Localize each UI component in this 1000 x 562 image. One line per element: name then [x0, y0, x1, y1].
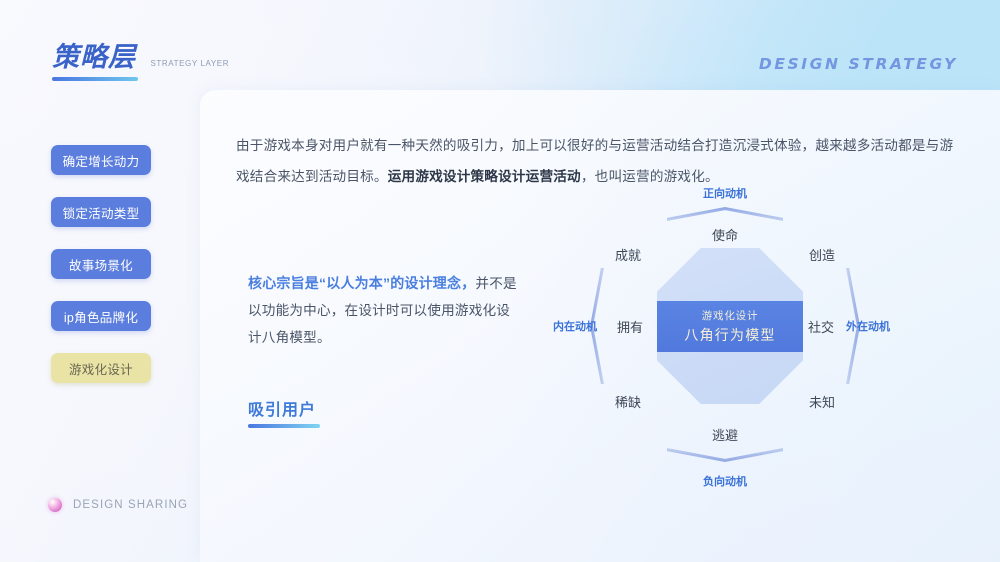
content-card: 由于游戏本身对用户就有一种天然的吸引力，加上可以很好的与运营活动结合打造沉浸式体… [200, 90, 1000, 562]
sidebar-item-gamification[interactable]: 游戏化设计 [51, 353, 151, 383]
sidebar-item-activity-type[interactable]: 锁定活动类型 [51, 197, 151, 227]
slide-header-left: 策略层 STRATEGY LAYER [52, 44, 229, 81]
axis-label-positive-motivation: 正向动机 [703, 185, 747, 201]
octagon-label-ownership: 拥有 [617, 317, 643, 336]
chevron-up-icon [667, 207, 783, 221]
brand-footer: DESIGN SHARING [48, 498, 188, 512]
axis-label-intrinsic-motivation: 内在动机 [553, 318, 597, 334]
sidebar-item-growth-driver[interactable]: 确定增长动力 [51, 145, 151, 175]
concept-blurb: 核心宗旨是“以人为本”的设计理念，并不是以功能为中心，在设计时可以使用游戏化设计… [248, 270, 518, 351]
octagon-label-achievement: 成就 [615, 245, 641, 264]
octagon-label-unpredictability: 未知 [809, 392, 835, 411]
axis-label-extrinsic-motivation: 外在动机 [846, 318, 890, 334]
octagon-core-line2: 八角行为模型 [684, 325, 775, 345]
octagon-label-scarcity: 稀缺 [615, 392, 641, 411]
chevron-down-icon [667, 448, 783, 462]
intro-paragraph-emphasis: 运用游戏设计策略设计运营活动 [388, 169, 581, 184]
octagon-core-band: 游戏化设计 八角行为模型 [657, 301, 803, 352]
octagon-label-social: 社交 [808, 317, 834, 336]
page-subtitle: STRATEGY LAYER [150, 59, 229, 68]
title-underline [52, 77, 138, 81]
octagon-label-mission: 使命 [712, 225, 738, 244]
section-subheading-underline [248, 424, 320, 428]
octagon-behavior-diagram: 正向动机 负向动机 内在动机 外在动机 游戏化设计 八角行为模型 使命 成就 创… [550, 185, 970, 515]
octagon-label-avoidance: 逃避 [712, 425, 738, 444]
section-subheading-label: 吸引用户 [248, 396, 320, 420]
deck-title: DESIGN STRATEGY [759, 55, 958, 73]
slide-canvas: 策略层 STRATEGY LAYER DESIGN STRATEGY 确定增长动… [0, 0, 1000, 562]
sidebar-nav: 确定增长动力 锁定活动类型 故事场景化 ip角色品牌化 游戏化设计 [51, 145, 153, 405]
octagon-label-creativity: 创造 [809, 245, 835, 264]
concept-blurb-highlight: 核心宗旨是“以人为本”的设计理念， [248, 275, 475, 291]
intro-paragraph-part2: ，也叫运营的游戏化。 [581, 169, 719, 184]
axis-label-negative-motivation: 负向动机 [703, 473, 747, 489]
intro-paragraph: 由于游戏本身对用户就有一种天然的吸引力，加上可以很好的与运营活动结合打造沉浸式体… [236, 130, 954, 192]
sidebar-item-ip-branding[interactable]: ip角色品牌化 [51, 301, 151, 331]
page-title: 策略层 [52, 44, 136, 71]
brand-label: DESIGN SHARING [73, 499, 188, 511]
sphere-icon [48, 498, 62, 512]
section-subheading: 吸引用户 [248, 396, 320, 428]
octagon-core-line1: 游戏化设计 [702, 308, 759, 323]
sidebar-item-story-scene[interactable]: 故事场景化 [51, 249, 151, 279]
